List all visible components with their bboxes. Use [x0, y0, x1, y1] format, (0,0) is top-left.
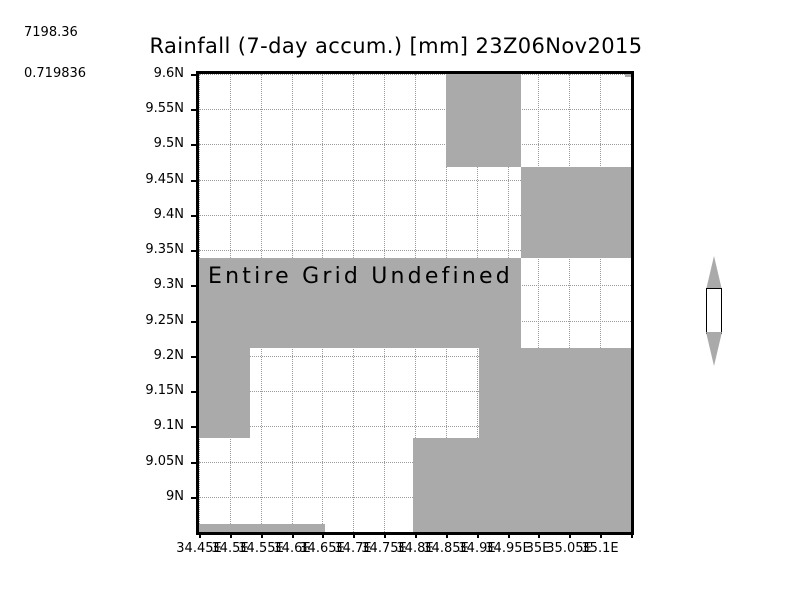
colorbar-body [706, 288, 722, 334]
axis-tick-x [508, 532, 510, 538]
axis-label-y: 9.45N [124, 172, 184, 187]
gridline-horizontal [199, 109, 631, 110]
axis-tick-y [191, 109, 197, 111]
axis-tick-y [191, 497, 197, 499]
axis-label-x: 35.1E [577, 541, 623, 556]
axis-label-y: 9.15N [124, 383, 184, 398]
plot-area[interactable] [196, 71, 634, 535]
axis-label-y: 9.2N [124, 348, 184, 363]
axis-tick-x [199, 532, 201, 538]
axis-tick-y [191, 250, 197, 252]
colorbar-down-arrow-icon [706, 332, 722, 366]
undefined-cell-patch [446, 74, 521, 167]
colorbar-low-label: 0.719836 [24, 66, 86, 81]
axis-tick-y [191, 426, 197, 428]
axis-label-y: 9.4N [124, 207, 184, 222]
chart-root: Rainfall (7-day accum.) [mm] 23Z06Nov201… [0, 0, 792, 612]
axis-tick-y [191, 321, 197, 323]
axis-tick-x [230, 532, 232, 538]
undefined-cell-patch [521, 167, 634, 258]
axis-label-y: 9.6N [124, 66, 184, 81]
axis-label-y: 9.25N [124, 313, 184, 328]
axis-label-y: 9.55N [124, 101, 184, 116]
axis-tick-x [477, 532, 479, 538]
axis-tick-y [191, 462, 197, 464]
undefined-cell-patch [413, 438, 631, 528]
axis-tick-x [569, 532, 571, 538]
axis-tick-x [261, 532, 263, 538]
axis-label-y: 9.35N [124, 242, 184, 257]
axis-tick-x [292, 532, 294, 538]
gridline-horizontal [199, 144, 631, 145]
colorbar-up-arrow-icon [706, 256, 722, 290]
undefined-grid-message: Entire Grid Undefined [208, 264, 513, 289]
axis-tick-y [191, 391, 197, 393]
axis-label-y: 9.1N [124, 418, 184, 433]
axis-tick-x [384, 532, 386, 538]
axis-tick-x [631, 532, 633, 538]
axis-tick-x [538, 532, 540, 538]
axis-tick-y [191, 180, 197, 182]
colorbar-high-label: 7198.36 [24, 25, 78, 40]
axis-tick-x [415, 532, 417, 538]
page-title: Rainfall (7-day accum.) [mm] 23Z06Nov201… [0, 34, 792, 58]
undefined-cell-patch [479, 348, 631, 438]
axis-label-y: 9N [124, 489, 184, 504]
axis-tick-x [446, 532, 448, 538]
axis-tick-y [191, 144, 197, 146]
axis-label-y: 9.05N [124, 454, 184, 469]
axis-label-y: 9.3N [124, 277, 184, 292]
axis-tick-x [353, 532, 355, 538]
undefined-cell-patch [625, 74, 634, 77]
undefined-cell-patch [199, 348, 250, 438]
axis-tick-x [600, 532, 602, 538]
gridline-horizontal [199, 74, 631, 75]
axis-tick-y [191, 74, 197, 76]
axis-tick-y [191, 285, 197, 287]
undefined-cell-patch [625, 170, 631, 258]
plot-inner [199, 74, 631, 532]
colorbar-legend[interactable] [703, 256, 727, 366]
axis-tick-y [191, 215, 197, 217]
axis-label-y: 9.5N [124, 136, 184, 151]
axis-tick-x [322, 532, 324, 538]
axis-tick-y [191, 356, 197, 358]
